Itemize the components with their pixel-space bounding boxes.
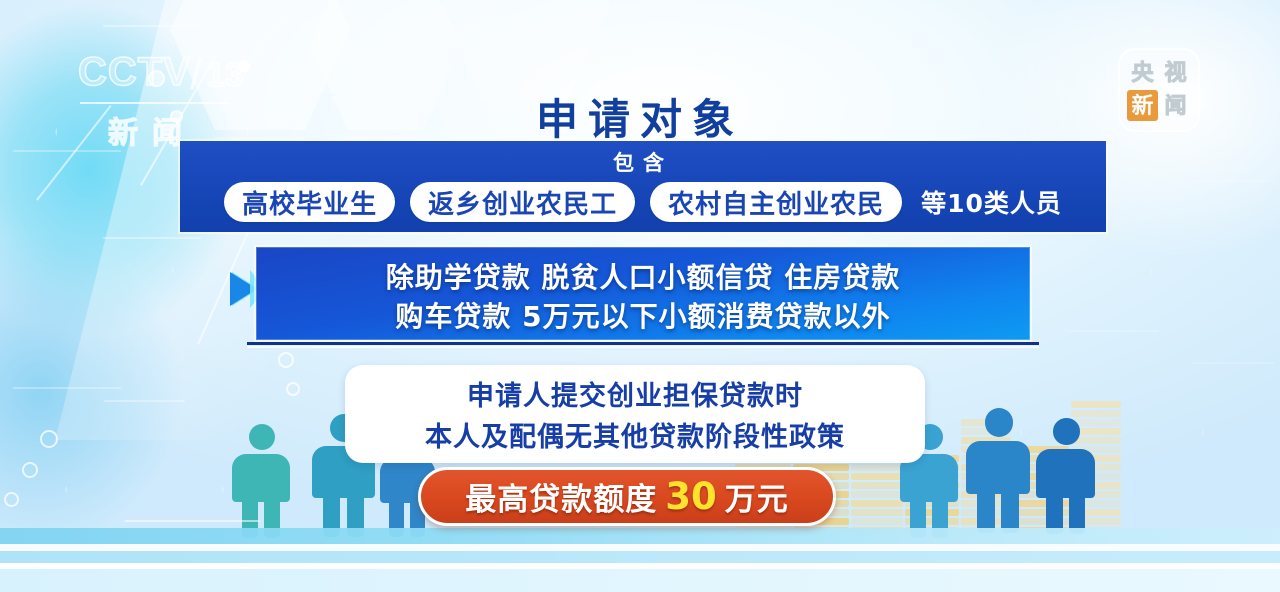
- condition-card: 申请人提交创业担保贷款时 本人及配偶无其他贷款阶段性政策: [345, 365, 925, 463]
- coin-bar: [851, 500, 903, 507]
- coin-bar: [851, 464, 903, 471]
- coin-bar: [851, 509, 903, 516]
- include-tail-text: 等10类人员: [921, 184, 1062, 220]
- coin-bar: [851, 518, 903, 525]
- condition-line-2: 本人及配偶无其他贷款阶段性政策: [345, 415, 925, 454]
- app-logo-char: 视: [1160, 57, 1191, 88]
- person-silhouette-icon: [232, 424, 292, 536]
- exclude-panel-underline-light: [247, 346, 1039, 348]
- loan-limit-amount: 30: [665, 475, 717, 518]
- app-logo-row-top: 央 视: [1127, 57, 1191, 89]
- coin-bar: [1071, 401, 1121, 408]
- exclude-panel-underline: [247, 342, 1039, 345]
- include-pill-row: 高校毕业生返乡创业农民工农村自主创业农民等10类人员: [180, 180, 1106, 224]
- exclude-line-2: 购车贷款 5万元以下小额消费贷款以外: [256, 295, 1030, 335]
- decor-circle-icon: [278, 352, 294, 368]
- coin-bar: [1071, 410, 1121, 417]
- decor-circle-icon: [40, 430, 58, 448]
- person-body: [232, 454, 290, 502]
- include-pill-0: 高校毕业生: [224, 182, 395, 222]
- page-title: 申请对象: [0, 86, 1280, 147]
- app-logo-char: 央: [1127, 57, 1158, 88]
- person-leg: [977, 489, 995, 533]
- exclude-line-1: 除助学贷款 脱贫人口小额信贷 住房贷款: [256, 256, 1030, 296]
- bottom-band: [0, 551, 1280, 563]
- decor-circle-icon: [22, 462, 38, 478]
- include-pill-2: 农村自主创业农民: [650, 182, 902, 222]
- bottom-band: [0, 528, 1280, 544]
- person-head: [985, 408, 1014, 437]
- coin-bar: [851, 491, 903, 498]
- person-silhouette-icon: [966, 408, 1032, 531]
- person-body: [1036, 449, 1095, 498]
- decor-circle-icon: [286, 382, 300, 396]
- coin-bar: [851, 482, 903, 489]
- include-heading: 包含: [180, 147, 1106, 177]
- include-panel: 包含 高校毕业生返乡创业农民工农村自主创业农民等10类人员: [180, 141, 1106, 232]
- person-head: [1053, 418, 1080, 445]
- person-leg: [1001, 489, 1019, 533]
- loan-limit-label: 最高贷款额度: [465, 474, 657, 519]
- decor-circle-icon: [4, 492, 19, 507]
- condition-line-1: 申请人提交创业担保贷款时: [345, 374, 925, 413]
- bottom-band: [0, 569, 1280, 592]
- loan-limit-unit: 万元: [725, 474, 789, 519]
- include-pill-1: 返乡创业农民工: [410, 182, 635, 222]
- bottom-band: [0, 544, 1280, 551]
- exclude-panel: 除助学贷款 脱贫人口小额信贷 住房贷款 购车贷款 5万元以下小额消费贷款以外: [256, 247, 1030, 340]
- person-head: [249, 424, 275, 450]
- person-body: [966, 441, 1030, 494]
- coin-bar: [851, 473, 903, 480]
- loan-limit-badge: 最高贷款额度 30 万元: [418, 467, 836, 526]
- person-silhouette-icon: [1036, 418, 1097, 532]
- broadcast-graphic: CCTV / 13 新闻 央 视 新 闻 申请对象 包含 高校毕业生返乡创业农民…: [0, 0, 1280, 592]
